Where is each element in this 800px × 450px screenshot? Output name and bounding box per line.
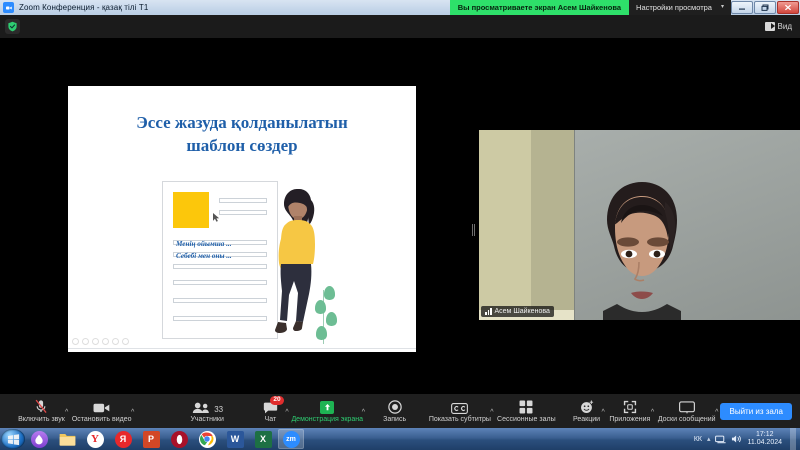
participant-face — [591, 176, 693, 320]
zoom-in-icon[interactable] — [112, 338, 119, 345]
window-controls — [731, 0, 800, 15]
participants-label: Участники — [190, 416, 223, 423]
smiley-reaction-icon — [580, 399, 594, 414]
leaf-shape — [324, 286, 335, 300]
screen-share-banner: Вы просматриваете экран Асем Шайкенова — [450, 0, 629, 15]
yellow-square-shape — [173, 192, 209, 228]
apps-label: Приложения — [609, 416, 650, 423]
phrase-text-1: Менің ойымша ... — [176, 240, 280, 248]
slide-illustration: Менің ойымша ... Себебі мен оны ... — [162, 178, 352, 348]
apps-button[interactable]: Приложения — [607, 394, 653, 428]
word-icon: W — [227, 431, 244, 448]
doc-line — [173, 264, 267, 269]
zoom-icon — [3, 2, 14, 13]
participants-icon: 33 — [191, 399, 223, 414]
shield-check-icon[interactable] — [5, 19, 20, 34]
droplet-app-icon — [31, 431, 48, 448]
view-layout-icon — [765, 22, 775, 31]
apps-icon — [623, 399, 637, 414]
window-title: Zoom Конференция - қазақ тілі Т1 — [19, 3, 148, 12]
file-explorer-icon — [59, 431, 76, 448]
participant-name-badge: Асем Шайкенова — [481, 306, 554, 317]
taskbar-item-chrome[interactable] — [194, 429, 220, 449]
record-button[interactable]: Запись — [378, 394, 412, 428]
plant-leaves-graphic — [314, 286, 350, 346]
window-title-bar: Zoom Конференция - қазақ тілі Т1 Вы прос… — [0, 0, 800, 15]
taskbar-item-opera[interactable] — [166, 429, 192, 449]
yandex-icon: Я — [115, 431, 132, 448]
taskbar-item-zoom[interactable]: zm — [278, 429, 304, 449]
phrase-text-2: Себебі мен оны ... — [176, 252, 280, 260]
taskbar-item-file-explorer[interactable] — [54, 429, 80, 449]
clock-date: 11.04.2024 — [747, 439, 782, 446]
tray-overflow-icon[interactable]: ▴ — [707, 435, 711, 443]
taskbar-item-yandex[interactable]: Я — [110, 429, 136, 449]
windows-taskbar: Y Я P W — [0, 428, 800, 450]
breakout-rooms-label: Сессионные залы — [497, 416, 556, 423]
leave-meeting-button[interactable]: Выйти из зала — [720, 403, 792, 420]
maximize-button[interactable] — [754, 1, 776, 14]
whiteboard-icon — [679, 399, 695, 414]
show-desktop-button[interactable] — [790, 428, 796, 450]
breakout-rooms-icon — [519, 399, 533, 414]
minimize-button[interactable] — [731, 1, 753, 14]
language-indicator[interactable]: КК — [694, 436, 702, 443]
presentation-playback-controls[interactable] — [72, 338, 129, 345]
participant-name-label: Асем Шайкенова — [495, 308, 550, 315]
doc-line — [173, 280, 267, 285]
opera-icon — [171, 431, 188, 448]
microphone-muted-icon — [34, 399, 48, 414]
unmute-audio-button[interactable]: Включить звук — [16, 394, 67, 428]
taskbar-item-powerpoint[interactable]: P — [138, 429, 164, 449]
chrome-icon — [199, 431, 216, 448]
reactions-button[interactable]: Реакции — [570, 394, 604, 428]
pen-tool-icon[interactable] — [92, 338, 99, 345]
breakout-rooms-button[interactable]: Сессионные залы — [496, 394, 558, 428]
closed-caption-icon — [451, 399, 468, 414]
leaf-shape — [316, 326, 327, 340]
participants-count: 33 — [214, 405, 223, 414]
document-graphic — [162, 181, 278, 339]
leaf-shape — [326, 312, 337, 326]
grid-view-icon[interactable] — [102, 338, 109, 345]
close-button[interactable] — [777, 1, 799, 14]
view-button-label: Вид — [778, 22, 792, 31]
show-captions-button[interactable]: Показать субтитры — [427, 394, 492, 428]
unmute-audio-label: Включить звук — [18, 416, 65, 423]
prev-slide-icon[interactable] — [72, 338, 79, 345]
share-screen-label: Демонстрация экрана — [291, 416, 363, 423]
taskbar-item-yandex-browser[interactable]: Y — [82, 429, 108, 449]
background-wall-left-shadow — [531, 130, 574, 320]
record-label: Запись — [383, 416, 406, 423]
record-circle-icon — [388, 399, 402, 414]
video-feed: Асем Шайкенова — [479, 130, 800, 320]
panel-drag-handle[interactable] — [470, 223, 476, 237]
shared-screen-stage: Эссе жазуда қолданылатын шаблон сөздер М… — [0, 38, 800, 394]
meeting-secondary-bar: Вид — [0, 15, 800, 38]
chat-button[interactable]: 20 Чат — [253, 394, 287, 428]
whiteboards-button[interactable]: Доски сообщений — [656, 394, 717, 428]
system-tray: КК ▴ 17:12 11.04.2024 — [694, 428, 800, 450]
meeting-control-bar: Включить звук ^ Остановить видео ^ — [0, 394, 800, 428]
show-captions-label: Показать субтитры — [429, 416, 491, 423]
windows-start-orb-icon[interactable] — [1, 429, 25, 449]
yandex-browser-icon: Y — [87, 431, 104, 448]
mouse-cursor-icon — [213, 209, 220, 218]
chat-unread-badge: 20 — [270, 396, 283, 405]
view-options-label: Настройки просмотра — [636, 0, 712, 15]
doc-line — [173, 298, 267, 303]
view-options-dropdown[interactable]: Настройки просмотра ▾ — [629, 0, 731, 15]
slide-title-line-2: шаблон сөздер — [82, 135, 402, 158]
share-screen-button[interactable]: Демонстрация экрана — [291, 394, 364, 428]
camera-icon — [93, 399, 110, 414]
slide-title: Эссе жазуда қолданылатын шаблон сөздер — [68, 112, 416, 157]
slide-bottom-rule — [68, 348, 416, 349]
chevron-down-icon: ▾ — [721, 0, 724, 15]
taskbar-item-word[interactable]: W — [222, 429, 248, 449]
slide-title-line-1: Эссе жазуда қолданылатын — [82, 112, 402, 135]
leaf-shape — [315, 300, 326, 314]
stop-video-label: Остановить видео — [72, 416, 132, 423]
participant-video-tile[interactable]: Асем Шайкенова — [479, 100, 800, 354]
background-wall-seam — [574, 130, 575, 320]
clock-time: 17:12 — [756, 431, 774, 438]
powerpoint-icon: P — [143, 431, 160, 448]
chat-label: Чат — [265, 416, 277, 423]
shared-presentation-slide[interactable]: Эссе жазуда қолданылатын шаблон сөздер М… — [68, 86, 416, 352]
whiteboards-label: Доски сообщений — [658, 416, 716, 423]
more-options-icon[interactable] — [122, 338, 129, 345]
next-slide-icon[interactable] — [82, 338, 89, 345]
taskbar-item-excel[interactable]: X — [250, 429, 276, 449]
taskbar-item-droplet[interactable] — [26, 429, 52, 449]
view-button[interactable]: Вид — [765, 19, 792, 34]
doc-line — [219, 210, 267, 215]
volume-icon[interactable] — [731, 434, 742, 444]
reactions-label: Реакции — [573, 416, 600, 423]
doc-line — [219, 198, 267, 203]
zoom-taskbar-icon: zm — [283, 431, 300, 448]
participants-button[interactable]: 33 Участники — [187, 394, 227, 428]
share-screen-icon — [320, 399, 334, 414]
taskbar-clock[interactable]: 17:12 11.04.2024 — [747, 431, 782, 447]
network-icon[interactable] — [715, 434, 726, 444]
excel-icon: X — [255, 431, 272, 448]
stop-video-button[interactable]: Остановить видео — [70, 394, 133, 428]
zoom-meeting-window: Zoom Конференция - қазақ тілі Т1 Вы прос… — [0, 0, 800, 450]
signal-bars-icon — [485, 308, 492, 315]
doc-line — [173, 316, 267, 321]
